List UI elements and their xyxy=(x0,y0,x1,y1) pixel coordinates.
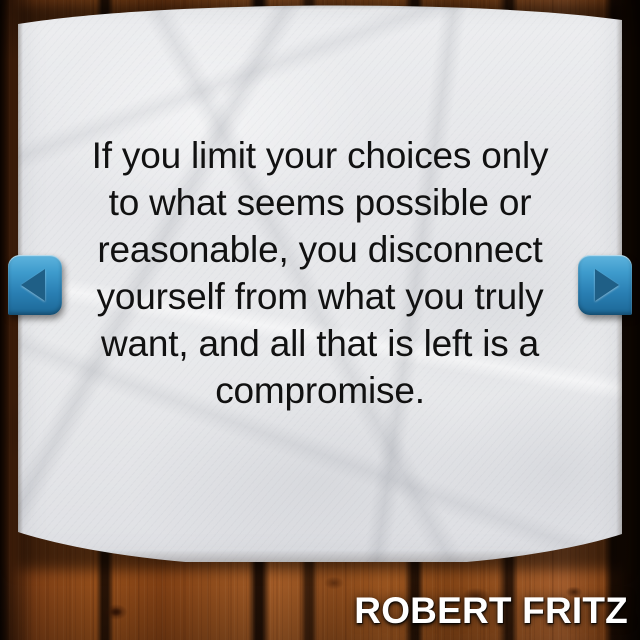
previous-quote-button[interactable] xyxy=(8,255,62,315)
quote-card-screen: If you limit your choices only to what s… xyxy=(0,0,640,640)
arrow-right-icon xyxy=(595,269,619,301)
next-quote-button[interactable] xyxy=(578,255,632,315)
quote-text: If you limit your choices only to what s… xyxy=(28,132,612,414)
arrow-left-icon xyxy=(21,269,45,301)
quote-author-name: ROBERT FRITZ xyxy=(354,590,628,632)
